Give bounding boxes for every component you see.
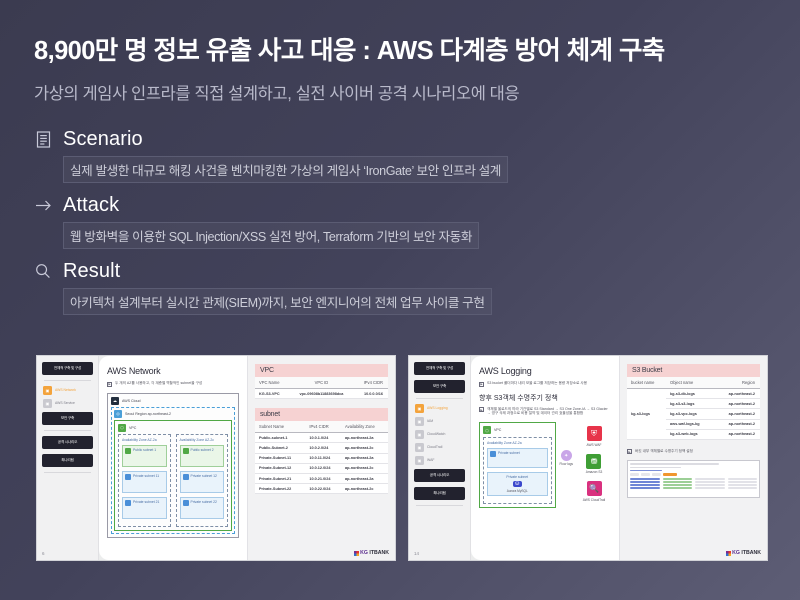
nav-pill[interactable]: 공격 시나리오 [414,469,465,482]
section-result: Result 아키텍처 설계부터 실시간 관제(SIEM)까지, 보안 엔지니어… [34,258,766,315]
console-cell [728,478,758,480]
table-cell: ap-northeast-2c [341,443,388,453]
subnet-table: subnet Subnet Name IPv4 CIDR Availabilit… [255,408,388,494]
service-label: Amazon S3 [586,470,602,474]
section-result-head: Result [34,258,766,284]
nav-pill[interactable]: 보안 구축 [42,412,93,425]
diagram-vpc-row: ⬡ VPC [118,424,228,432]
table-cell: 10.0.11.0/24 [305,453,341,463]
slide-page-number: 6 [42,551,45,556]
flow-logs-label: Flow logs [560,462,573,466]
table-row: Private-Subnet-2210.0.22.0/24ap-northeas… [255,484,388,494]
nav-pill[interactable]: 공격 시나리오 [42,436,93,449]
column-header: IPv4 CIDR [352,377,388,389]
slide-right-nav: 전체적 구축 및 구성 보안 구축 ▣AWS Logging▣IAM▣Cloud… [409,356,471,560]
diagram-vpc-label: VPC [494,428,501,432]
aws-console-screenshot [627,460,760,498]
bullet-text: 두 개의 AZ를 사용하고, 각 계층별 역할적인 subnet을 구성 [115,381,202,387]
slide-right-bullet-2: ▶ 객체별 올로드의 따라 기간별로 S3 Standard → S3 One … [479,407,611,417]
nav-pill[interactable]: 최나리됨 [42,454,93,467]
cell-region: ap-northeast-2 [713,429,760,439]
magnifier-icon [34,262,52,280]
section-list: Scenario 실제 발생한 대규모 해킹 사건을 벤치마킹한 가상의 게임사… [0,126,800,315]
cell-object-name: kg-s3-web-logs [666,429,713,439]
table-header-row: VPC Name VPC ID IPv4 CIDR [255,377,388,389]
nav-item-aws-network[interactable]: ▣ AWS Network [42,386,93,395]
cell-ipv4-cidr: 10.0.0.0/16 [352,389,388,399]
column-header: Availability Zone [341,421,388,433]
cell-vpc-id: vpc-09608b11883698dca [289,389,352,399]
bullet-icon: ▶ [479,407,484,412]
console-cell [630,487,660,489]
table-cell: Public-Subnet-2 [255,443,305,453]
table-cell: ap-northeast-2c [341,463,388,473]
console-cell [663,481,693,483]
logo-mark-icon [354,551,359,556]
region-icon: ◎ [114,410,122,418]
availability-zone-2a: Availability Zone AZ-2a Public subnet 1 … [118,434,171,527]
table-cell: 10.0.1.0/24 [305,433,341,443]
db-label: Aurora MySQL [507,489,528,493]
nav-item-cloudtrail[interactable]: ▣CloudTrail [414,443,465,452]
diagram-vpc-row: ⬡ VPC [483,426,552,434]
subnet-icon [125,448,131,454]
vpc-table: VPC VPC Name VPC ID IPv4 CIDR KG-S3-VPC … [255,364,388,399]
slide-page-number: 14 [414,551,419,556]
section-result-desc: 아키텍처 설계부터 실시간 관제(SIEM)까지, 보안 엔지니어의 전체 업무… [63,288,492,315]
subnet-box: Private subnet 22 [180,497,225,519]
column-header: Subnet Name [255,421,305,433]
slide-right-title: AWS Logging [479,366,611,376]
aws-cloudtrail-icon: 🔍 [587,481,602,496]
network-icon: ▣ [43,386,52,395]
subnet-label: Private subnet 11 [133,474,159,490]
s3-bucket-table: S3 Bucket bucket name Object name Region… [627,364,760,440]
console-row [630,487,757,489]
service-aws-cloudtrail: 🔍 AWS CloudTrail [583,481,605,502]
nav-item-cloudwatch[interactable]: ▣CloudWatch [414,430,465,439]
column-header: VPC ID [289,377,352,389]
nav-divider [44,380,91,381]
service-amazon-s3: ⛃ Amazon S3 [586,454,602,475]
subnet-label: Public subnet 1 [133,448,156,464]
cell-region: ap-northeast-2 [713,389,760,399]
az-title: Availability Zone AZ-2c [180,438,225,442]
table-cell: ap-northeast-2c [341,484,388,494]
diagram-cloud-row: ☁ AWS Cloud [111,397,235,405]
slide-right-data-panel: S3 Bucket bucket name Object name Region… [619,356,767,560]
table-cell: ap-northeast-2a [341,453,388,463]
logo-itbank: ITBANK [369,550,389,556]
console-line [630,470,662,472]
logging-diagram: ⬡ VPC Availability Zone AZ-2a Private su… [479,422,611,508]
subnet-icon [183,500,189,506]
aurora-mysql-icon: ⛁ [513,481,522,487]
console-cell [630,478,660,480]
nav-pill[interactable]: 최나리됨 [414,487,465,500]
subnet-box: Private subnet 21 [122,497,167,519]
subnet-label: Private subnet [506,475,528,479]
cell-object-name: kg-s3-vpc-logs [666,409,713,419]
section-scenario-head: Scenario [34,126,766,152]
nav-divider [416,398,463,399]
console-cell [728,481,758,483]
subnet-icon [125,474,131,480]
service-icon: ▣ [415,417,424,426]
slide-header: 8,900만 명 정보 유출 사고 대응 : AWS 다계층 방어 체계 구축 … [0,0,800,104]
section-scenario: Scenario 실제 발생한 대규모 해킹 사건을 벤치마킹한 가상의 게임사… [34,126,766,183]
nav-divider [44,430,91,431]
console-primary-button [663,473,677,476]
table-cell: ap-northeast-2a [341,473,388,483]
console-row [630,478,757,480]
console-cell [695,478,725,480]
s3-table-caption: S3 Bucket [627,364,760,377]
flow-logs-icon: ✦ [561,450,572,461]
kg-itbank-logo: KG ITBANK [726,550,761,556]
slide-left-canvas: AWS Network ▶ 두 개의 AZ를 사용하고, 각 계층별 역할적인 … [99,356,247,560]
subnet-icon [183,448,189,454]
amazon-s3-icon: ⛃ [586,454,601,469]
nav-item-iam[interactable]: ▣IAM [414,417,465,426]
section-result-label: Result [63,260,120,283]
section-attack: Attack 웹 방화벽을 이용한 SQL Injection/XSS 실전 방… [34,192,766,249]
availability-zones: Availability Zone AZ-2a Public subnet 1 … [118,434,228,527]
console-cell [695,481,725,483]
console-cell [630,484,660,486]
cell-region: ap-northeast-2 [713,409,760,419]
section-attack-label: Attack [63,194,119,217]
aws-cloud-icon: ☁ [111,397,119,405]
nav-pill[interactable]: 전체적 구축 및 구성 [42,362,93,375]
nav-item-label: AWS Service [55,401,75,405]
console-cell [663,478,693,480]
nav-item-label: IAM [427,419,433,423]
subnet-box: Public subnet 2 [180,445,225,467]
subnet-box: Private subnet 12 [180,471,225,493]
console-button [652,473,661,476]
network-diagram: ☁ AWS Cloud ◎ Seoul Region ap-northeast-… [107,393,239,538]
table-cell: Private-Subnet-22 [255,484,305,494]
bullet-text: S3 bucket 폴더마다 내리 모을 로그를 저장하는 용량 저장소로 사용 [487,381,587,387]
table-row: KG-S3-VPC vpc-09608b11883698dca 10.0.0.0… [255,389,388,399]
cell-object-name: kg-s3-db-logs [666,389,713,399]
cell-object-name: aws-waf-logs-kg [666,419,713,429]
kg-itbank-logo: KG ITBANK [354,550,389,556]
slide-right-subtitle: 향후 S3객체 수명주기 정책 [479,393,611,403]
console-cell [695,484,725,486]
console-cell [695,487,725,489]
console-caption-row: ▶ 버킷 내부 객체별로 수명주기 정책 설정 [627,449,760,455]
aws-waf-icon: ⛨ [587,426,602,441]
nav-pill[interactable]: 전체적 구축 및 구성 [414,362,465,375]
section-attack-head: Attack [34,192,766,218]
availability-zone-2c: Availability Zone AZ-2c Public subnet 2 … [176,434,229,527]
nav-pill[interactable]: 보안 구축 [414,380,465,393]
az-title: Availability Zone AZ-2a [487,441,548,445]
bullet-text: 객체별 올로드의 따라 기간별로 S3 Standard → S3 One Zo… [487,407,611,417]
logging-az-box: Availability Zone AZ-2a Private subnet P… [483,437,552,504]
subnet-label: Private subnet 22 [191,500,217,516]
slide-right-canvas: AWS Logging ▶ S3 bucket 폴더마다 내리 모을 로그를 저… [471,356,619,560]
logo-kg: KG [732,550,740,556]
service-icon: ▣ [43,399,52,408]
slide-left-title: AWS Network [107,366,239,376]
console-cell [663,484,693,486]
diagram-vpc-label: VPC [129,426,136,430]
table-row: kg-s3-logskg-s3-db-logsap-northeast-2 [627,389,760,399]
table-cell: Private-Subnet-21 [255,473,305,483]
column-header: Object name [666,377,713,389]
table-row: Private-Subnet-2110.0.21.0/24ap-northeas… [255,473,388,483]
table-row: Public-Subnet-210.0.2.0/24ap-northeast-2… [255,443,388,453]
console-row [630,484,757,486]
table-cell: 10.0.22.0/24 [305,484,341,494]
table-cell: 10.0.2.0/24 [305,443,341,453]
slide-left-nav: 전체적 구축 및 구성 ▣ AWS Network ▣ AWS Service … [37,356,99,560]
az-title: Availability Zone AZ-2a [122,438,167,442]
slide-left-data-panel: VPC VPC Name VPC ID IPv4 CIDR KG-S3-VPC … [247,356,395,560]
subnet-icon [490,451,496,457]
table-cell: Public-subnet-1 [255,433,305,443]
console-button [630,473,639,476]
table-cell: 10.0.12.0/24 [305,463,341,473]
table-row: Public-subnet-110.0.1.0/24ap-northeast-2… [255,433,388,443]
vpc-table-caption: VPC [255,364,388,377]
aws-services-column: ⛨ AWS WAF ⛃ Amazon S3 🔍 AWS CloudTrail [577,422,611,508]
table-cell: Private-Subnet-11 [255,453,305,463]
subnet-label: Public subnet 2 [191,448,214,464]
cell-object-name: kg-s3-s3-logs [666,399,713,409]
column-header: VPC Name [255,377,289,389]
diagram-region-row: ◎ Seoul Region ap-northeast-2 [114,410,232,418]
nav-item-label: CloudWatch [427,432,445,436]
console-caption: 버킷 내부 객체별로 수명주기 정책 설정 [635,449,693,455]
service-icon: ▣ [415,456,424,465]
nav-divider [416,505,463,506]
subnet-label: Private subnet [498,451,520,465]
logging-vpc-box: ⬡ VPC Availability Zone AZ-2a Private su… [479,422,556,508]
subnet-box: Private subnet 11 [122,471,167,493]
vpc-icon: ⬡ [483,426,491,434]
column-header: IPv4 CIDR [305,421,341,433]
console-cell [728,487,758,489]
arrow-right-icon [34,196,52,214]
subnet-box-db: Private subnet ⛁ Aurora MySQL [487,472,548,496]
subnet-icon [183,474,189,480]
diagram-region-label: Seoul Region ap-northeast-2 [125,412,171,416]
console-line [630,463,719,465]
thumbnail-aws-logging[interactable]: 전체적 구축 및 구성 보안 구축 ▣AWS Logging▣IAM▣Cloud… [408,355,768,561]
section-scenario-desc: 실제 발생한 대규모 해킹 사건을 벤치마킹한 가상의 게임사 ‘IronGat… [63,156,508,183]
table-cell: ap-northeast-2a [341,433,388,443]
slide-right-bullet: ▶ S3 bucket 폴더마다 내리 모을 로그를 저장하는 용량 저장소로 … [479,381,611,387]
service-icon: ▣ [415,443,424,452]
subnet-icon [125,500,131,506]
region-box: ◎ Seoul Region ap-northeast-2 ⬡ VPC Avai… [111,407,235,534]
table-cell: Private-Subnet-12 [255,463,305,473]
column-header: bucket name [627,377,666,389]
logo-mark-icon [726,551,731,556]
section-attack-desc: 웹 방화벽을 이용한 SQL Injection/XSS 실전 방어, Terr… [63,222,479,249]
console-cell [728,484,758,486]
subnet-label: Private subnet 12 [191,474,217,490]
table-header-row: Subnet Name IPv4 CIDR Availability Zone [255,421,388,433]
service-icon: ▣ [415,404,424,413]
thumbnail-aws-network[interactable]: 전체적 구축 및 구성 ▣ AWS Network ▣ AWS Service … [36,355,396,561]
nav-item-aws-logging[interactable]: ▣AWS Logging [414,404,465,413]
subnet-box: Private subnet [487,448,548,468]
subnet-table-caption: subnet [255,408,388,421]
nav-item-aws-service[interactable]: ▣ AWS Service [42,399,93,408]
diagram-cloud-label: AWS Cloud [122,399,140,403]
service-label: AWS CloudTrail [583,498,605,502]
service-label: AWS WAF [587,443,602,447]
vpc-box: ⬡ VPC Availability Zone AZ-2a Public sub… [114,420,232,531]
section-scenario-label: Scenario [63,128,143,151]
console-row [630,481,757,483]
slide-thumbnails: 전체적 구축 및 구성 ▣ AWS Network ▣ AWS Service … [36,355,768,561]
subnet-label: Private subnet 21 [133,500,159,516]
bullet-icon: ▶ [107,382,112,387]
console-cell [663,487,693,489]
cell-vpc-name: KG-S3-VPC [255,389,289,399]
service-aws-waf: ⛨ AWS WAF [587,426,602,447]
nav-item-label: CloudTrail [427,445,442,449]
bullet-icon: ▶ [627,449,632,454]
logo-itbank: ITBANK [741,550,761,556]
service-icon: ▣ [415,430,424,439]
subnet-box: Public subnet 1 [122,445,167,467]
table-row: Private-Subnet-1110.0.11.0/24ap-northeas… [255,453,388,463]
nav-item-label: WAF [427,458,434,462]
console-cell [630,481,660,483]
nav-item-waf[interactable]: ▣WAF [414,456,465,465]
table-header-row: bucket name Object name Region [627,377,760,389]
cell-bucket-name: kg-s3-logs [627,389,666,440]
page-title: 8,900만 명 정보 유출 사고 대응 : AWS 다계층 방어 체계 구축 [34,30,766,67]
table-row: Private-Subnet-1210.0.12.0/24ap-northeas… [255,463,388,473]
column-header: Region [713,377,760,389]
cell-region: ap-northeast-2 [713,419,760,429]
nav-divider [44,472,91,473]
cell-region: ap-northeast-2 [713,399,760,409]
table-cell: 10.0.21.0/24 [305,473,341,483]
bullet-icon: ▶ [479,382,484,387]
flow-logs-node: ✦ Flow logs [560,422,573,508]
console-line [630,467,681,469]
logo-kg: KG [360,550,368,556]
vpc-icon: ⬡ [118,424,126,432]
page-subtitle: 가상의 게임사 인프라를 직접 설계하고, 실전 사이버 공격 시나리오에 대응 [34,80,766,104]
nav-item-label: AWS Network [55,388,76,392]
nav-item-label: AWS Logging [427,406,448,410]
console-button [641,473,650,476]
console-toolbar [630,473,757,476]
document-icon [34,130,52,148]
slide-left-bullet: ▶ 두 개의 AZ를 사용하고, 각 계층별 역할적인 subnet을 구성 [107,381,239,387]
